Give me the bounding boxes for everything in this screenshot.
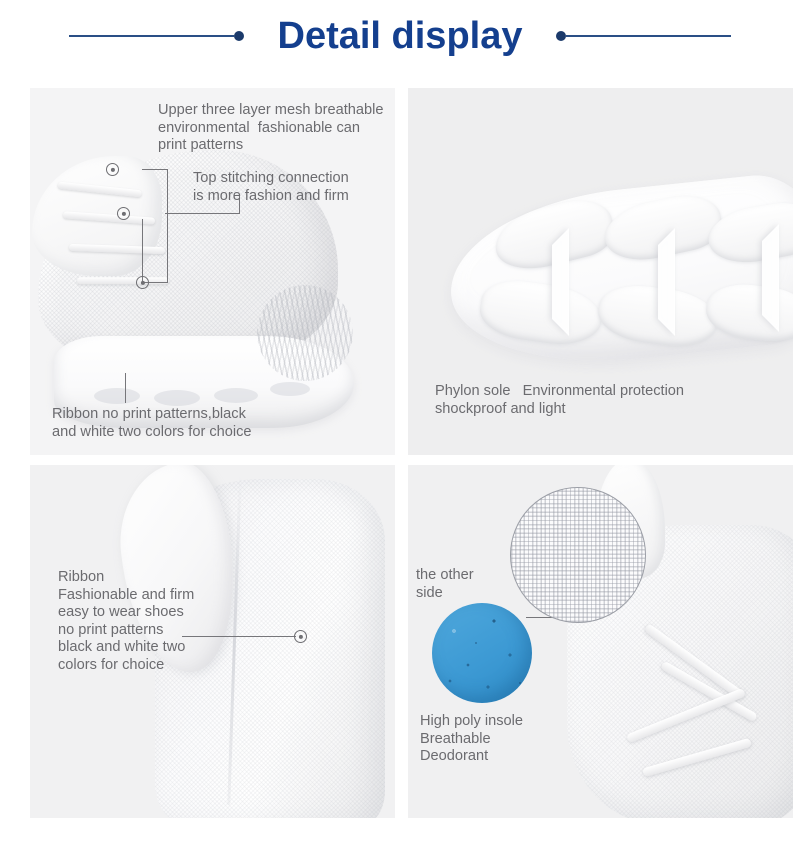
leader-line xyxy=(165,213,240,214)
header-dot-right-icon xyxy=(556,31,566,41)
leader-line xyxy=(142,219,143,283)
header-rule-line-left xyxy=(69,35,234,37)
page-header: Detail display xyxy=(0,0,800,72)
leader-marker xyxy=(136,276,149,289)
leader-line xyxy=(167,169,168,282)
insole-note: High poly insole Breathable Deodorant xyxy=(420,713,523,766)
panel-insole: the other side High poly insole Breathab… xyxy=(408,465,793,818)
ribbon-collar-note: Ribbon Fashionable and firm easy to wear… xyxy=(58,569,194,674)
blue-insole-circle xyxy=(432,603,532,703)
header-rule-left xyxy=(69,31,244,41)
leader-marker xyxy=(106,163,119,176)
leader-line xyxy=(125,373,126,403)
leader-marker xyxy=(294,630,307,643)
stitch-texture-circle xyxy=(257,285,353,381)
ribbon-note: Ribbon no print patterns,black and white… xyxy=(52,406,252,441)
other-side-note: the other side xyxy=(416,567,474,602)
upper-mesh-note: Upper three layer mesh breathable enviro… xyxy=(158,102,384,155)
leader-line xyxy=(142,169,168,170)
page-title: Detail display xyxy=(278,17,523,55)
header-rule-right xyxy=(556,31,731,41)
mesh-texture-circle xyxy=(510,487,646,623)
leader-marker xyxy=(117,207,130,220)
panel-upper-mesh: Upper three layer mesh breathable enviro… xyxy=(30,88,395,455)
top-stitching-note: Top stitching connection is more fashion… xyxy=(193,170,349,205)
panel-phylon-sole: Phylon sole Environmental protection sho… xyxy=(408,88,793,455)
phylon-sole-note: Phylon sole Environmental protection sho… xyxy=(435,383,684,418)
header-dot-left-icon xyxy=(234,31,244,41)
leader-line xyxy=(182,636,296,637)
panel-ribbon-collar: Ribbon Fashionable and firm easy to wear… xyxy=(30,465,395,818)
header-rule-line-right xyxy=(566,35,731,37)
detail-panel-grid: Upper three layer mesh breathable enviro… xyxy=(30,88,793,818)
